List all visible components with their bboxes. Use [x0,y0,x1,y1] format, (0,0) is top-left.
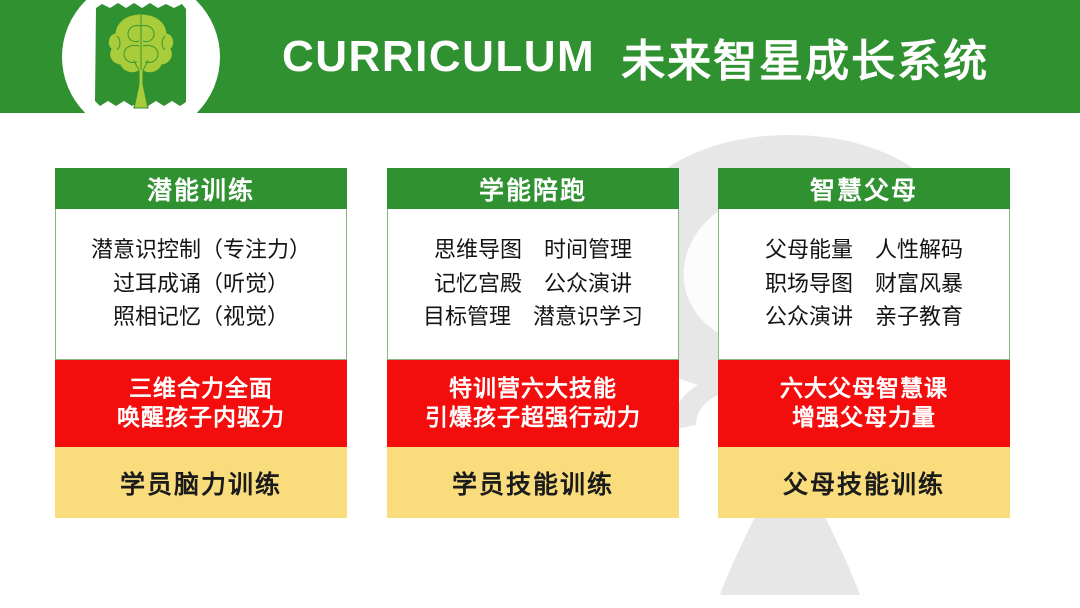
card-2-header: 学能陪跑 [387,168,679,209]
page-title: CURRICULUM 未来智星成长系统 [282,0,989,113]
card-3-header: 智慧父母 [718,168,1010,209]
card-3-highlight-line-1: 六大父母智慧课 [780,374,948,403]
page-title-english: CURRICULUM [282,32,595,82]
card-1-highlight: 三维合力全面 唤醒孩子内驱力 [55,360,347,447]
card-2-line-1: 思维导图 时间管理 [434,233,632,266]
card-3-line-2: 职场导图 财富风暴 [765,267,963,300]
card-1-line-2: 过耳成诵（听觉） [113,267,289,300]
card-1-line-3: 照相记忆（视觉） [113,300,289,333]
page-title-chinese: 未来智星成长系统 [621,25,989,89]
card-1-highlight-line-1: 三维合力全面 [129,374,273,403]
card-2-highlight-line-2: 引爆孩子超强行动力 [425,403,641,432]
card-2-body: 思维导图 时间管理 记忆宫殿 公众演讲 目标管理 潜意识学习 [387,209,679,360]
card-1-highlight-line-2: 唤醒孩子内驱力 [117,403,285,432]
card-2-footer: 学员技能训练 [387,447,679,518]
card-3-line-1: 父母能量 人性解码 [765,233,963,266]
brand-logo [62,0,220,136]
card-2-highlight: 特训营六大技能 引爆孩子超强行动力 [387,360,679,447]
card-1-line-1: 潜意识控制（专注力） [91,233,311,266]
curriculum-card-1[interactable]: 潜能训练 潜意识控制（专注力） 过耳成诵（听觉） 照相记忆（视觉） 三维合力全面… [55,168,347,518]
card-3-highlight: 六大父母智慧课 增强父母力量 [718,360,1010,447]
brain-tree-logo-icon [90,0,192,118]
curriculum-card-3[interactable]: 智慧父母 父母能量 人性解码 职场导图 财富风暴 公众演讲 亲子教育 六大父母智… [718,168,1010,518]
card-2-line-3: 目标管理 潜意识学习 [423,300,643,333]
card-3-highlight-line-2: 增强父母力量 [792,403,936,432]
card-1-footer: 学员脑力训练 [55,447,347,518]
card-1-header: 潜能训练 [55,168,347,209]
card-1-body: 潜意识控制（专注力） 过耳成诵（听觉） 照相记忆（视觉） [55,209,347,360]
card-2-line-2: 记忆宫殿 公众演讲 [434,267,632,300]
card-3-line-3: 公众演讲 亲子教育 [765,300,963,333]
card-3-body: 父母能量 人性解码 职场导图 财富风暴 公众演讲 亲子教育 [718,209,1010,360]
curriculum-poster: CURRICULUM 未来智星成长系统 [0,0,1080,608]
card-2-highlight-line-1: 特训营六大技能 [449,374,617,403]
card-3-footer: 父母技能训练 [718,447,1010,518]
curriculum-card-2[interactable]: 学能陪跑 思维导图 时间管理 记忆宫殿 公众演讲 目标管理 潜意识学习 特训营六… [387,168,679,518]
